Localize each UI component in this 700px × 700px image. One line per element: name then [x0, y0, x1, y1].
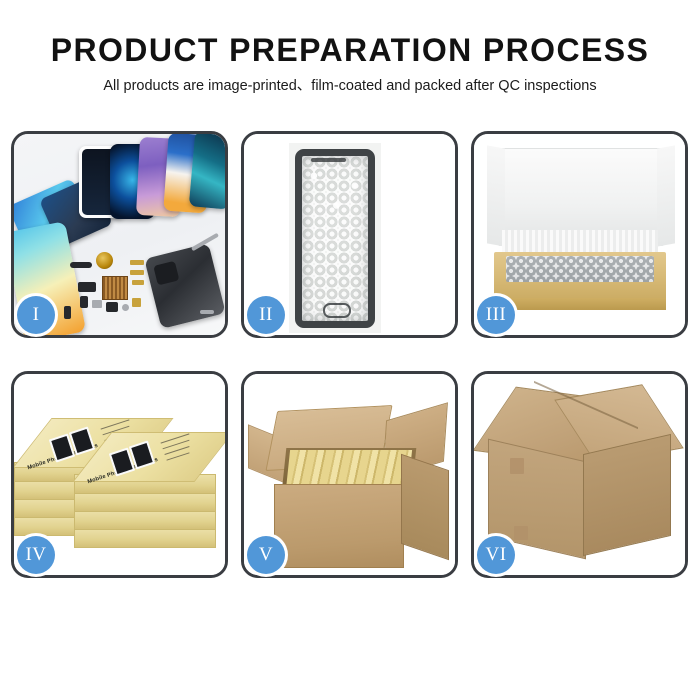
phone-back-housing-disassembled — [144, 243, 225, 329]
box-tray-front-edge — [494, 298, 666, 310]
step-badge-2: II — [247, 296, 285, 334]
part-ic-chip — [102, 276, 128, 300]
process-step-panel-3[interactable]: III — [471, 131, 688, 338]
part-home-button — [122, 304, 129, 311]
screen-home-button-outline — [323, 303, 351, 318]
part-sim-tray — [132, 298, 141, 307]
step-badge-3: III — [477, 296, 515, 334]
process-step-panel-6[interactable]: VI — [471, 371, 688, 578]
part-screwdriver-tip — [200, 310, 214, 314]
stack-box-r3 — [74, 492, 216, 512]
step-badge-6: VI — [477, 536, 515, 574]
process-step-panel-2[interactable]: II — [241, 131, 458, 338]
part-gold-bracket-3 — [132, 280, 144, 285]
stack-box-r4 — [74, 510, 216, 530]
packing-tape-upper — [510, 458, 524, 474]
packing-tape-lower — [514, 526, 528, 540]
part-small-connector — [64, 306, 71, 319]
process-step-grid: I II III — [11, 131, 689, 578]
process-step-panel-4[interactable]: Mobile Phone Spare Parts Mobile Phone Sp… — [11, 371, 228, 578]
page-header: PRODUCT PREPARATION PROCESS All products… — [0, 0, 700, 97]
step-badge-4: IV — [17, 536, 55, 574]
part-vibration-coil — [96, 252, 113, 269]
sealed-carton-right-face — [583, 434, 671, 556]
carton-front-face — [274, 484, 404, 568]
page-subtitle: All products are image-printed、film-coat… — [0, 75, 700, 97]
part-metal-shield — [92, 300, 102, 308]
step-badge-5: V — [247, 536, 285, 574]
wrapped-screen-in-box — [506, 256, 654, 282]
part-speaker-bar — [70, 262, 92, 268]
process-step-panel-5[interactable]: V — [241, 371, 458, 578]
page-title: PRODUCT PREPARATION PROCESS — [0, 30, 700, 70]
part-camera-module — [80, 296, 88, 308]
step-badge-1: I — [17, 296, 55, 334]
screen-earpiece-slot — [311, 158, 345, 162]
bubble-wrapped-screen — [295, 149, 375, 328]
part-flex-cable — [78, 282, 96, 292]
phone-screen-teal-wave — [189, 134, 225, 210]
process-step-panel-1[interactable]: I — [11, 131, 228, 338]
bubble-wrap-photo — [289, 143, 381, 333]
box-kraft-tray — [494, 252, 666, 304]
part-gold-bracket-2 — [130, 270, 144, 275]
carton-right-face — [401, 454, 449, 561]
stack-box-r5 — [74, 528, 216, 548]
part-taptic-engine — [106, 302, 118, 312]
part-gold-bracket-1 — [130, 260, 144, 265]
